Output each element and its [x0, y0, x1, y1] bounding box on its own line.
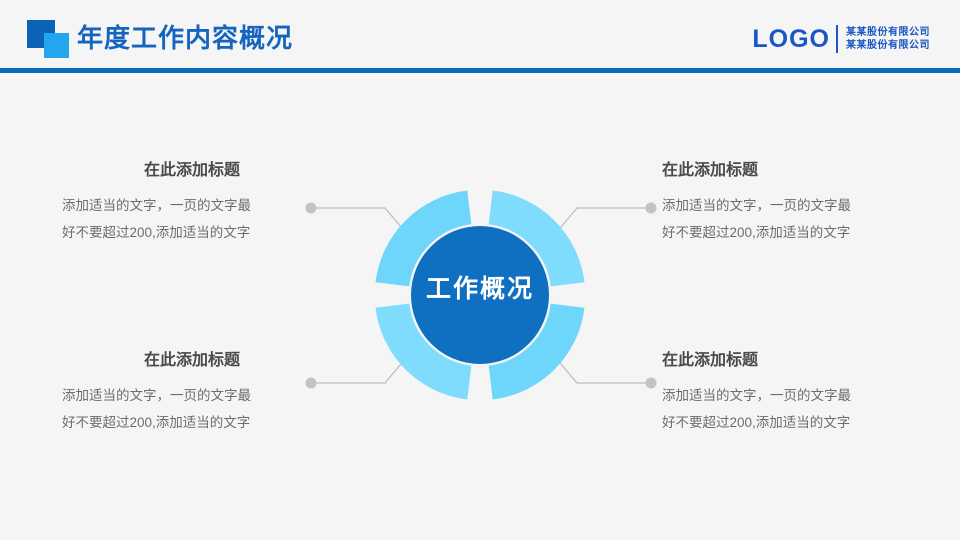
info-block-body-line-1: 添加适当的文字，一页的文字最: [62, 192, 322, 219]
info-block-title: 在此添加标题: [662, 160, 922, 182]
ring-arc-lower-left: [392, 306, 469, 383]
info-block-body-line-2: 好不要超过200,添加适当的文字: [62, 219, 322, 246]
logo-square-light-icon: [44, 33, 69, 58]
info-block-title: 在此添加标题: [662, 350, 922, 372]
corporate-logo-divider: [836, 25, 838, 53]
info-block-body-line-2: 好不要超过200,添加适当的文字: [662, 409, 922, 436]
connector-dot-top-right: [646, 203, 657, 214]
connector-line-bottom-right: [550, 351, 649, 383]
logo-mark-icon: [27, 20, 73, 60]
info-block-top-right: 在此添加标题 添加适当的文字，一页的文字最 好不要超过200,添加适当的文字: [662, 160, 922, 246]
connector-line-top-left: [313, 208, 412, 240]
connector-line-bottom-left: [313, 351, 412, 383]
info-block-body-line-1: 添加适当的文字，一页的文字最: [62, 382, 322, 409]
connector-line-top-right: [550, 208, 649, 240]
info-block-body-line-1: 添加适当的文字，一页的文字最: [662, 192, 922, 219]
info-block-body: 添加适当的文字，一页的文字最 好不要超过200,添加适当的文字: [62, 192, 322, 246]
hub-and-spoke-diagram: [0, 0, 960, 540]
connector-dot-bottom-right: [646, 378, 657, 389]
header-divider-rule: [0, 68, 960, 73]
info-block-body-line-1: 添加适当的文字，一页的文字最: [662, 382, 922, 409]
info-block-body: 添加适当的文字，一页的文字最 好不要超过200,添加适当的文字: [62, 382, 322, 436]
slide-header: 年度工作内容概况 LOGO 某某股份有限公司 某某股份有限公司: [0, 0, 960, 68]
corporate-logo-wordmark: LOGO: [752, 24, 830, 54]
corporate-logo-text: 某某股份有限公司 某某股份有限公司: [846, 26, 930, 52]
info-block-body: 添加适当的文字，一页的文字最 好不要超过200,添加适当的文字: [662, 382, 922, 436]
info-block-body-line-2: 好不要超过200,添加适当的文字: [662, 219, 922, 246]
center-circle-label: 工作概况: [390, 272, 570, 306]
corporate-logo: LOGO 某某股份有限公司 某某股份有限公司: [752, 22, 930, 56]
corporate-logo-line-1: 某某股份有限公司: [846, 26, 930, 39]
info-block-bottom-left: 在此添加标题 添加适当的文字，一页的文字最 好不要超过200,添加适当的文字: [62, 350, 322, 436]
corporate-logo-line-2: 某某股份有限公司: [846, 39, 930, 52]
page-title: 年度工作内容概况: [77, 22, 293, 54]
info-block-title: 在此添加标题: [62, 160, 322, 182]
info-block-body: 添加适当的文字，一页的文字最 好不要超过200,添加适当的文字: [662, 192, 922, 246]
ring-arc-lower-right: [491, 306, 568, 383]
info-block-title: 在此添加标题: [62, 350, 322, 372]
info-block-bottom-right: 在此添加标题 添加适当的文字，一页的文字最 好不要超过200,添加适当的文字: [662, 350, 922, 436]
info-block-body-line-2: 好不要超过200,添加适当的文字: [62, 409, 322, 436]
info-block-top-left: 在此添加标题 添加适当的文字，一页的文字最 好不要超过200,添加适当的文字: [62, 160, 322, 246]
